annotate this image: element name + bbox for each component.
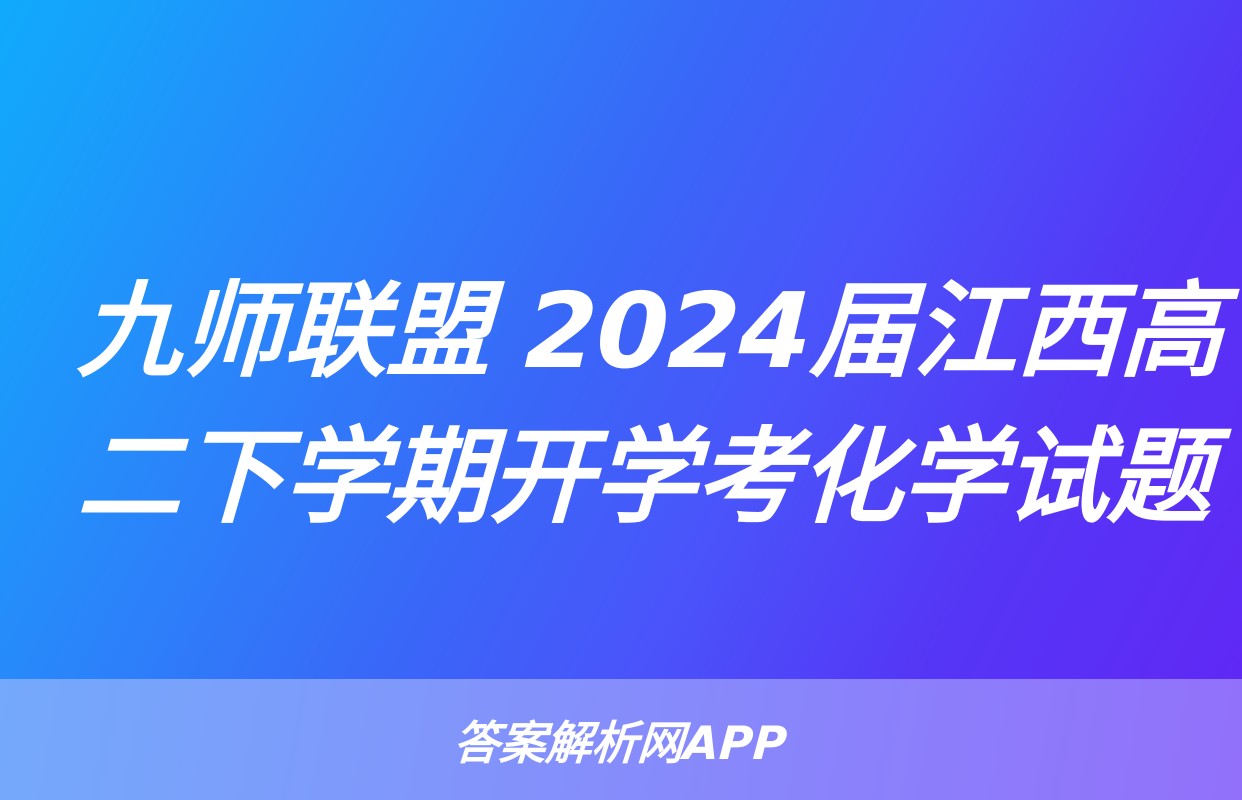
page-title-line-2: 二下学期开学考化学试题	[75, 404, 1170, 550]
page-title-line-1: 九师联盟 2024届江西高	[75, 258, 1170, 404]
title-block: 九师联盟 2024届江西高 二下学期开学考化学试题	[78, 258, 1168, 550]
hero-gradient-background: 九师联盟 2024届江西高 二下学期开学考化学试题	[0, 0, 1242, 679]
footer-watermark-bar: 答案解析网APP	[0, 679, 1242, 800]
watermark: 答案解析网APP	[0, 679, 1242, 800]
exam-cover-card: 九师联盟 2024届江西高 二下学期开学考化学试题 答案解析网APP	[0, 0, 1242, 800]
watermark-text: 答案解析网APP	[452, 707, 790, 773]
